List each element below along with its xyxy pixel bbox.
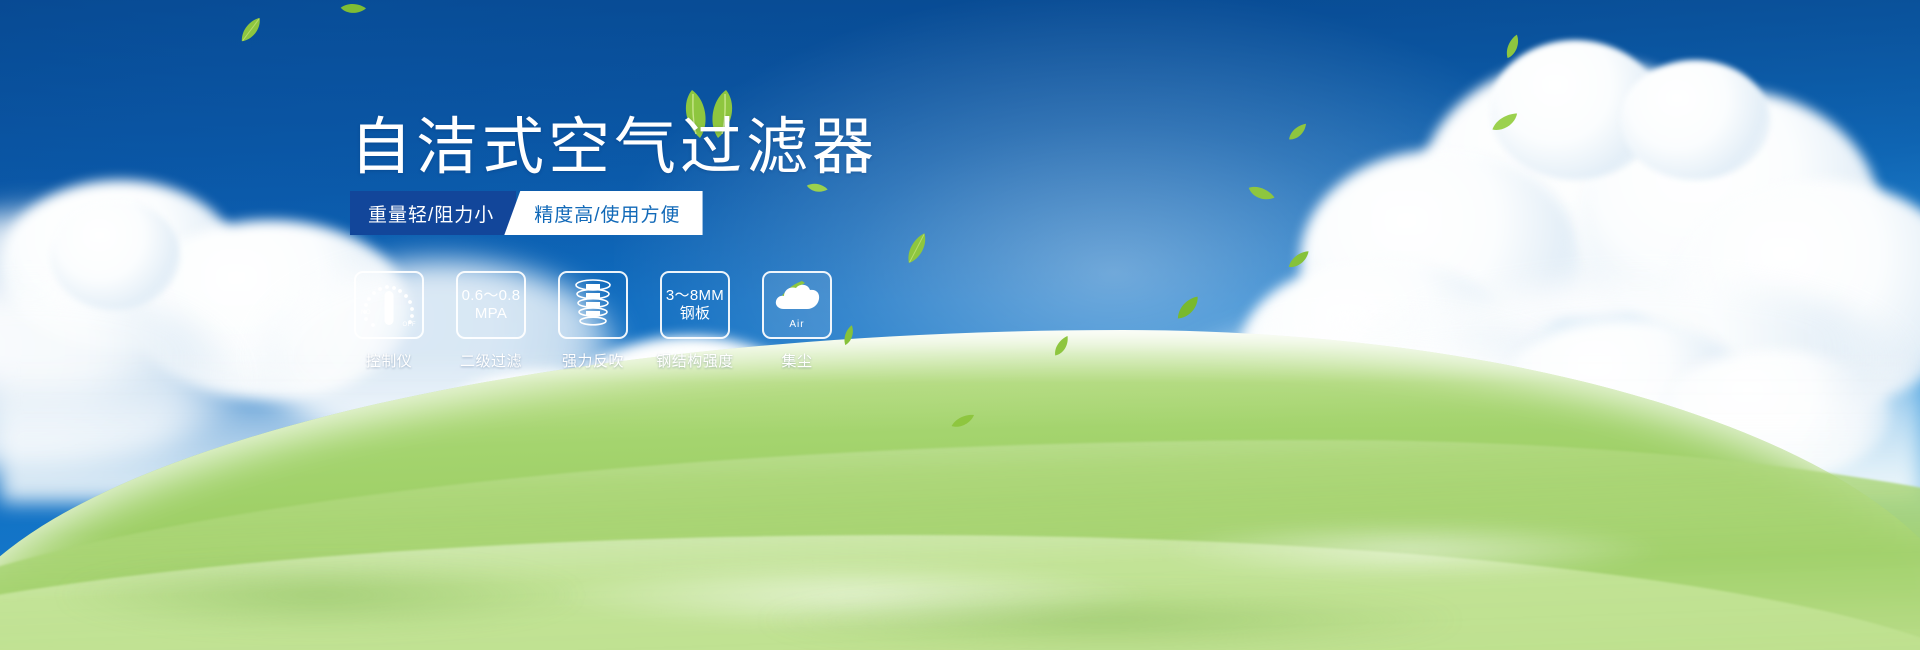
pressure-unit: MPA xyxy=(475,305,507,323)
feature-item[interactable]: 0.6～0.8 MPA 二级过滤 xyxy=(452,271,530,371)
hero-banner: 自洁式空气过滤器 重量轻/阻力小 精度高/使用方便 xyxy=(0,0,1920,650)
gauge-needle xyxy=(385,291,394,325)
tagline-tab-2[interactable]: 精度高/使用方便 xyxy=(504,191,702,235)
feature-icon-box: NO OFF xyxy=(354,271,424,339)
feature-item[interactable]: 强力反吹 xyxy=(554,271,632,371)
filter-stack-icon xyxy=(569,278,617,333)
feature-item[interactable]: 3～8MM 钢板 钢结构强度 xyxy=(656,271,734,371)
feature-item[interactable]: Air 集尘 xyxy=(758,271,836,371)
gauge-icon: NO OFF xyxy=(360,279,418,331)
banner-content: 自洁式空气过滤器 重量轻/阻力小 精度高/使用方便 xyxy=(0,0,1920,650)
feature-icon-box: 3～8MM 钢板 xyxy=(660,271,730,339)
feature-icon-box xyxy=(558,271,628,339)
feature-caption: 强力反吹 xyxy=(562,350,624,371)
pressure-value: 0.6～0.8 xyxy=(462,287,521,305)
feature-caption: 钢结构强度 xyxy=(656,350,734,371)
feature-icon-box: 0.6～0.8 MPA xyxy=(456,271,526,339)
feature-caption: 二级过滤 xyxy=(460,350,522,371)
feature-icon-row: NO OFF 控制仪 0.6～0.8 MPA 二级过滤 xyxy=(350,271,836,371)
page-title: 自洁式空气过滤器 xyxy=(350,117,878,179)
steel-thickness: 3～8MM xyxy=(666,287,724,305)
feature-caption: 控制仪 xyxy=(366,350,413,371)
gauge-label-no: NO xyxy=(361,310,371,317)
feature-icon-box: Air xyxy=(762,271,832,339)
tagline-tab-1-label: 重量轻/阻力小 xyxy=(368,200,494,227)
air-label: Air xyxy=(789,319,804,331)
gauge-label-off: OFF xyxy=(403,322,417,329)
feature-caption: 集尘 xyxy=(781,350,812,371)
cloud-air-icon xyxy=(772,279,822,318)
tagline-tab-2-label: 精度高/使用方便 xyxy=(534,200,680,227)
steel-material: 钢板 xyxy=(680,305,711,323)
tagline-tabs: 重量轻/阻力小 精度高/使用方便 xyxy=(350,191,703,235)
feature-item[interactable]: NO OFF 控制仪 xyxy=(350,271,428,371)
tagline-tab-1[interactable]: 重量轻/阻力小 xyxy=(350,191,516,235)
